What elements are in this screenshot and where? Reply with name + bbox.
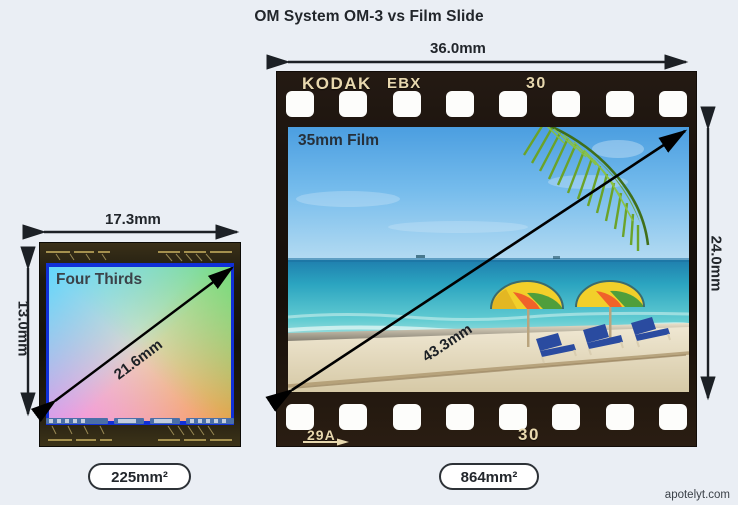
beach-photo: 35mm Film: [288, 127, 689, 392]
watermark: apotelyt.com: [665, 489, 730, 501]
four-thirds-sensor-graphic: Four Thirds: [40, 243, 240, 446]
film-frame-number-bottom-right: 30: [518, 425, 540, 445]
film-strip: KODAK EBX 30: [277, 72, 696, 446]
sprocket-hole: [499, 91, 527, 117]
four-thirds-area-badge: 225mm²: [88, 463, 191, 490]
film-emulsion-label: EBX: [387, 75, 421, 92]
film-strip-top-band: KODAK EBX 30: [277, 72, 696, 128]
sprocket-hole: [659, 404, 687, 430]
sprocket-hole: [393, 91, 421, 117]
four-thirds-width-label: 17.3mm: [105, 211, 161, 228]
sprocket-hole: [552, 91, 580, 117]
sprocket-hole: [606, 91, 634, 117]
diagram-canvas: OM System OM-3 vs Film Slide KODAK EBX 3…: [0, 0, 738, 505]
full-frame-width-label: 36.0mm: [430, 40, 486, 57]
sprocket-hole: [446, 404, 474, 430]
four-thirds-height-label: 13.0mm: [14, 301, 31, 357]
beach-photo-artwork: [288, 127, 689, 392]
sprocket-hole: [606, 404, 634, 430]
sprocket-holes-top: [286, 91, 687, 117]
sprocket-hole: [286, 91, 314, 117]
frame-advance-arrow-icon: [303, 438, 349, 446]
sensor-active-area: [49, 267, 231, 421]
full-frame-height-label: 24.0mm: [707, 236, 724, 292]
page-title: OM System OM-3 vs Film Slide: [0, 8, 738, 26]
full-frame-size-label: 35mm Film: [298, 132, 379, 150]
sprocket-hole: [659, 91, 687, 117]
sprocket-hole: [446, 91, 474, 117]
sensor-substrate-bottom: [40, 416, 240, 446]
full-frame-area-badge: 864mm²: [439, 463, 539, 490]
sprocket-holes-bottom: [286, 404, 687, 430]
sprocket-hole: [339, 91, 367, 117]
sprocket-hole: [393, 404, 421, 430]
four-thirds-size-label: Four Thirds: [56, 271, 142, 289]
film-strip-bottom-band: 29A 30: [277, 390, 696, 446]
sprocket-hole: [552, 404, 580, 430]
sprocket-hole: [339, 404, 367, 430]
